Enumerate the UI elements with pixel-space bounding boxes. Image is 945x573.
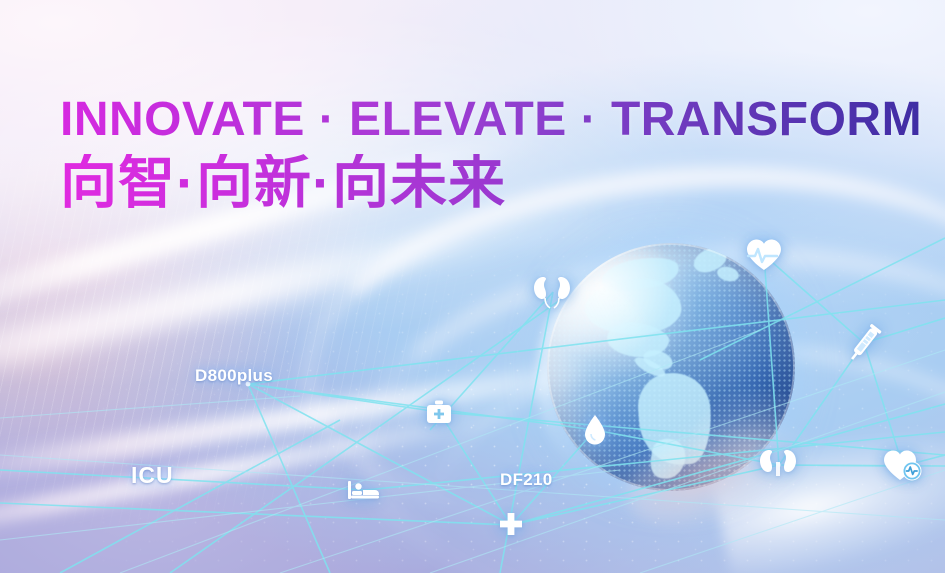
- page-subtitle: 向智·向新·向未来: [60, 154, 922, 214]
- label-d800plus: D800plus: [195, 366, 273, 386]
- label-df210: DF210: [500, 470, 553, 490]
- label-icu: ICU: [131, 462, 174, 489]
- banner-root: D800plus ICU DF210 INNOVATE · ELEVATE · …: [0, 0, 945, 573]
- page-title: INNOVATE · ELEVATE · TRANSFORM: [60, 96, 922, 144]
- headline-block: INNOVATE · ELEVATE · TRANSFORM 向智·向新·向未来: [60, 96, 922, 214]
